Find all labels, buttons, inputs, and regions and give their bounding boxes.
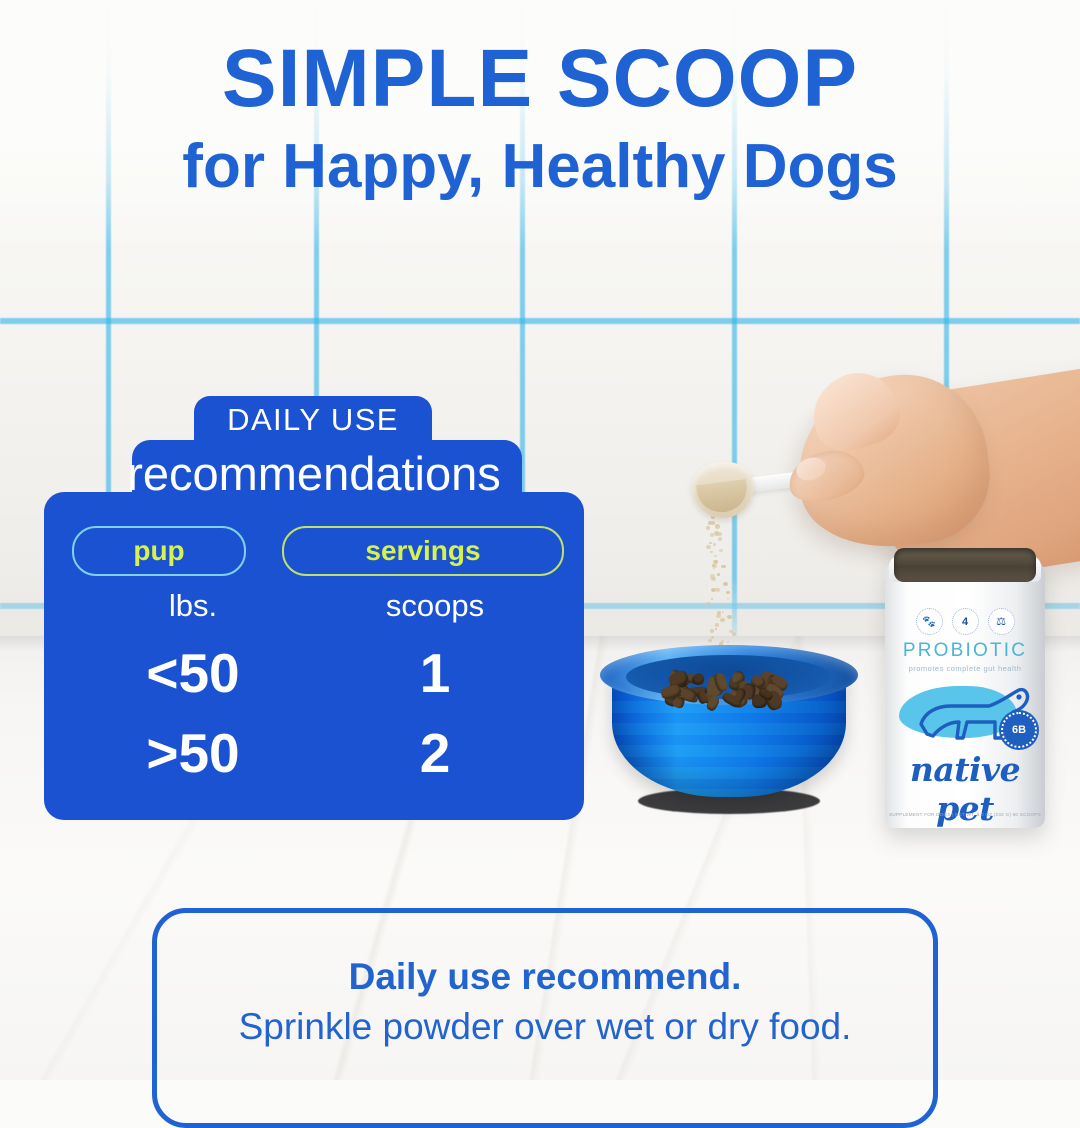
powder-grain	[727, 615, 732, 619]
powder-grain	[718, 537, 722, 541]
table-row: <50 1	[72, 646, 556, 701]
callout-line-2: Sprinkle powder over wet or dry food.	[157, 1005, 933, 1049]
powder-grain	[706, 585, 708, 586]
paw-icon: 🐾	[916, 608, 943, 635]
pill-servings: servings	[282, 526, 564, 576]
card-title: recommendations	[74, 450, 554, 497]
strains-count-badge: 4	[952, 608, 979, 635]
powder-grain	[727, 598, 729, 600]
powder-grain	[724, 604, 725, 605]
powder-grain	[711, 588, 716, 592]
powder-grain	[706, 526, 710, 530]
row2-weight: >50	[72, 726, 314, 781]
powder-grain	[709, 542, 712, 545]
powder-grain	[727, 641, 729, 643]
powder-grain	[715, 524, 720, 528]
cfu-seal-badge: 6B	[1001, 712, 1037, 748]
powder-grain	[711, 636, 714, 639]
powder-grain	[711, 577, 715, 581]
powder-grain	[708, 639, 712, 643]
powder-grain	[732, 632, 736, 636]
powder-grain	[715, 623, 719, 627]
powder-grain	[719, 549, 723, 552]
usage-callout-box: Daily use recommend. Sprinkle powder ove…	[152, 908, 938, 1128]
row1-weight: <50	[72, 646, 314, 701]
callout-line-1: Daily use recommend.	[157, 955, 933, 999]
tin-fine-print: SUPPLEMENT FOR DOGS | NET WT. 8.0 OZ (23…	[885, 812, 1045, 817]
headline-block: SIMPLE SCOOP for Happy, Healthy Dogs	[0, 38, 1080, 199]
powder-grain	[712, 564, 716, 567]
powder-grain	[717, 573, 720, 576]
tin-product-title: PROBIOTIC	[885, 640, 1045, 662]
row1-scoops: 1	[314, 646, 556, 701]
powder-grain	[706, 545, 711, 549]
powder-grain	[720, 618, 725, 622]
powder-grain	[710, 551, 713, 553]
pill-pup: pup	[72, 526, 246, 576]
collapsible-dog-bowl	[600, 645, 858, 810]
scoop-powder	[696, 479, 749, 515]
tin-badge-row: 🐾 4 ⚖	[885, 608, 1045, 635]
unit-lbs: lbs.	[72, 588, 314, 624]
powder-grain	[707, 602, 710, 605]
daily-use-recommendations-card: DAILY USE recommendations pup servings l…	[44, 396, 584, 820]
seal-icon: ⚖	[988, 608, 1015, 635]
powder-grain	[713, 568, 715, 569]
headline-secondary: for Happy, Healthy Dogs	[0, 134, 1080, 199]
card-kicker: DAILY USE	[194, 404, 432, 435]
powder-grain	[723, 582, 728, 586]
row2-scoops: 2	[314, 726, 556, 781]
powder-grain	[710, 629, 714, 632]
powder-grain	[722, 611, 724, 612]
unit-scoops: scoops	[314, 588, 556, 624]
powder-grain	[710, 533, 715, 537]
powder-grain	[711, 598, 713, 600]
powder-grain	[714, 555, 717, 557]
powder-grain	[715, 628, 717, 630]
tin-open-top	[894, 548, 1036, 582]
unit-header-row: lbs. scoops	[72, 588, 556, 624]
powder-grain	[721, 565, 726, 569]
column-header-pills: pup servings	[72, 526, 556, 576]
table-row: >50 2	[72, 726, 556, 781]
powder-grain	[717, 532, 722, 536]
powder-grain	[713, 543, 717, 546]
powder-grain	[714, 560, 718, 563]
headline-primary: SIMPLE SCOOP	[0, 38, 1080, 120]
product-tin: 🐾 4 ⚖ PROBIOTIC promotes complete gut he…	[885, 560, 1045, 828]
powder-grain	[726, 591, 730, 594]
